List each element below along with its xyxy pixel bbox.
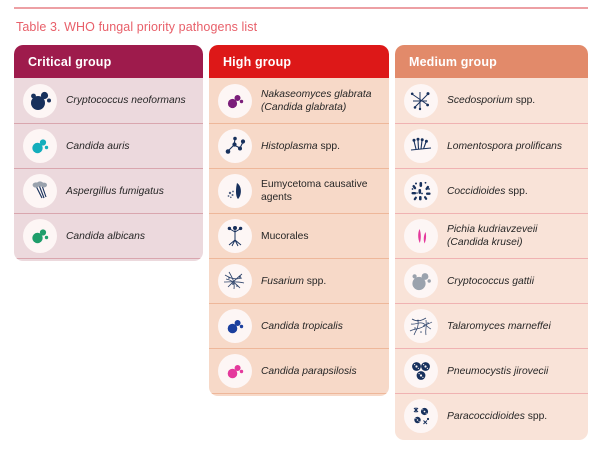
group-header-high-label: High group xyxy=(223,55,291,69)
list-item-label: Talaromyces marneffei xyxy=(447,320,551,333)
list-item-label: Pneumocystis jirovecii xyxy=(447,365,548,378)
list-item[interactable]: Coccidioides spp. xyxy=(395,168,588,213)
group-header-medium: Medium group xyxy=(395,45,588,78)
list-item[interactable]: Eumycetoma causative agents xyxy=(209,168,389,213)
list-item-label: Candida tropicalis xyxy=(261,320,343,333)
group-header-critical: Critical group xyxy=(14,45,203,78)
group-header-medium-label: Medium group xyxy=(409,55,497,69)
list-item-label: Scedosporium spp. xyxy=(447,94,535,107)
elongated-yeast-magenta-icon xyxy=(404,219,438,253)
list-item[interactable]: Cryptococcus neoformans xyxy=(14,78,203,123)
multibudding-yeast-navy-icon xyxy=(404,399,438,433)
budding-yeast-purple-icon xyxy=(218,84,252,118)
group-rows-medium: Scedosporium spp. Lomentospora prolifica… xyxy=(395,78,588,440)
cyst-cluster-navy-icon xyxy=(404,354,438,388)
list-item-label: Mucorales xyxy=(261,230,309,243)
top-divider-rule xyxy=(14,7,588,9)
list-item[interactable]: Scedosporium spp. xyxy=(395,78,588,123)
group-column-critical: Critical group Cryptococcus neoformans C… xyxy=(14,45,203,261)
list-item[interactable]: Candida parapsilosis xyxy=(209,348,389,393)
list-item[interactable]: Talaromyces marneffei xyxy=(395,303,588,348)
group-column-medium: Medium group Scedosporium spp. xyxy=(395,45,588,440)
group-rows-critical: Cryptococcus neoformans Candida auris xyxy=(14,78,203,261)
group-rows-high: Nakaseomyces glabrata (Candida glabrata)… xyxy=(209,78,389,396)
list-item[interactable]: Nakaseomyces glabrata (Candida glabrata) xyxy=(209,78,389,123)
list-item[interactable]: Paracoccidioides spp. xyxy=(395,393,588,438)
list-item-label: Histoplasma spp. xyxy=(261,140,340,153)
list-item[interactable]: Candida albicans xyxy=(14,213,203,258)
list-item-label: Paracoccidioides spp. xyxy=(447,410,547,423)
table-figure: Table 3. WHO fungal priority pathogens l… xyxy=(0,0,602,470)
list-item[interactable]: Histoplasma spp. xyxy=(209,123,389,168)
list-item[interactable]: Pichia kudriavzeveii (Candida krusei) xyxy=(395,213,588,258)
table-title: Table 3. WHO fungal priority pathogens l… xyxy=(16,20,257,34)
branched-hyphae-navy-icon xyxy=(404,84,438,118)
group-column-high: High group Nakaseomyces glabrata (Candid… xyxy=(209,45,389,396)
list-item-label: Fusarium spp. xyxy=(261,275,326,288)
list-item[interactable]: Lomentospora prolificans xyxy=(395,123,588,168)
list-item-label: Candida albicans xyxy=(66,230,145,243)
hyphae-spores-navy-icon xyxy=(218,129,252,163)
budding-yeast-teal-icon xyxy=(23,129,57,163)
budding-yeast-blue-icon xyxy=(218,309,252,343)
list-item[interactable]: Pneumocystis jirovecii xyxy=(395,348,588,393)
budding-yeast-navy-icon xyxy=(23,84,57,118)
group-header-critical-label: Critical group xyxy=(28,55,111,69)
group-header-high: High group xyxy=(209,45,389,78)
list-item-label: Lomentospora prolificans xyxy=(447,140,562,153)
list-item-label: Eumycetoma causative agents xyxy=(261,178,381,204)
list-item[interactable]: Fusarium spp. xyxy=(209,258,389,303)
grain-mass-navy-icon xyxy=(218,174,252,208)
budding-yeast-grey-icon xyxy=(404,264,438,298)
list-item-label: Cryptococcus gattii xyxy=(447,275,534,288)
budding-yeast-pink-icon xyxy=(218,354,252,388)
fusarium-hyphae-navy-icon xyxy=(218,264,252,298)
list-item[interactable]: Cryptococcus gattii xyxy=(395,258,588,303)
list-item-label: Pichia kudriavzeveii (Candida krusei) xyxy=(447,223,580,249)
arthroconidia-navy-icon xyxy=(404,174,438,208)
list-item-label: Candida parapsilosis xyxy=(261,365,357,378)
list-item-label: Aspergillus fumigatus xyxy=(66,185,164,198)
list-item-label: Cryptococcus neoformans xyxy=(66,94,186,107)
budding-yeast-green-icon xyxy=(23,219,57,253)
sporangiophore-navy-icon xyxy=(218,219,252,253)
groups-container: Critical group Cryptococcus neoformans C… xyxy=(14,45,588,455)
list-item[interactable]: Candida tropicalis xyxy=(209,303,389,348)
list-item-label: Candida auris xyxy=(66,140,130,153)
list-item[interactable]: Mucorales xyxy=(209,213,389,258)
mycelium-navy-icon xyxy=(404,309,438,343)
list-item[interactable]: Aspergillus fumigatus xyxy=(14,168,203,213)
conidiophore-grey-icon xyxy=(23,174,57,208)
list-item-label: Nakaseomyces glabrata (Candida glabrata) xyxy=(261,88,381,114)
list-item-label: Coccidioides spp. xyxy=(447,185,528,198)
list-item[interactable]: Candida auris xyxy=(14,123,203,168)
conidia-cluster-navy-icon xyxy=(404,129,438,163)
